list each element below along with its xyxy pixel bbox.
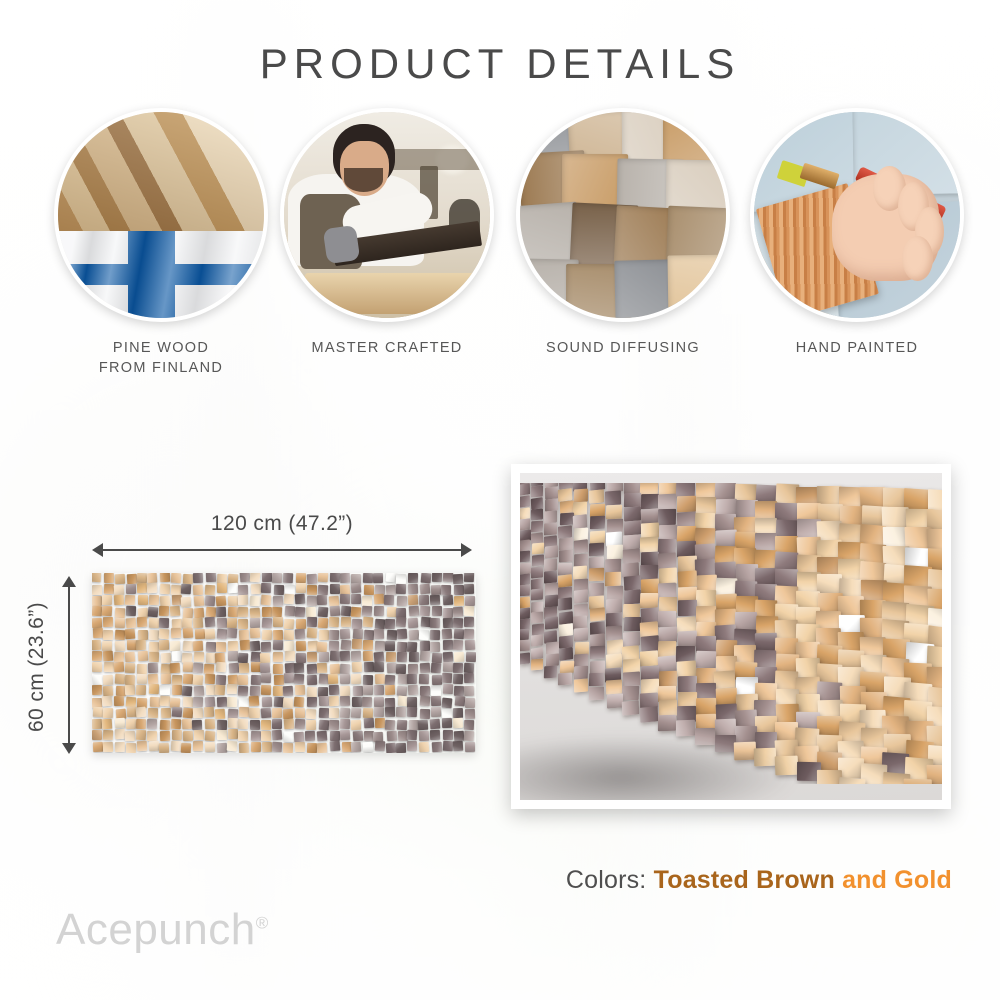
height-dimension-label: 60 cm (23.6”) (25, 577, 49, 757)
feature-label: SOUND DIFFUSING (508, 338, 738, 358)
feature-item-hand-painted[interactable]: HAND PAINTED (742, 108, 972, 358)
feature-label-line1: SOUND DIFFUSING (508, 338, 738, 358)
color-value-primary: Toasted Brown (654, 866, 835, 894)
feature-label-line1: PINE WOOD (46, 338, 276, 358)
product-details-infographic: PRODUCT DETAILS PINE WOOD FROM FINLAND (0, 0, 1000, 1000)
product-flat-view[interactable] (92, 573, 476, 753)
master-crafted-icon (280, 108, 494, 322)
feature-label-line1: HAND PAINTED (742, 338, 972, 358)
feature-label: MASTER CRAFTED (272, 338, 502, 358)
feature-item-pine-wood-from-finland[interactable]: PINE WOOD FROM FINLAND (46, 108, 276, 378)
arrow-down-head (62, 743, 76, 754)
feature-item-sound-diffusing[interactable]: SOUND DIFFUSING (508, 108, 738, 358)
arrow-up-head (62, 576, 76, 587)
feature-label: HAND PAINTED (742, 338, 972, 358)
feature-label-line1: MASTER CRAFTED (272, 338, 502, 358)
sound-diffusing-icon (516, 108, 730, 322)
color-value-secondary: and Gold (835, 866, 952, 894)
hand-painted-icon (750, 108, 964, 322)
page-title: PRODUCT DETAILS (0, 40, 1000, 88)
brand-watermark: Acepunch® (56, 905, 269, 955)
brand-name: Acepunch (56, 905, 256, 954)
feature-list: PINE WOOD FROM FINLAND (0, 108, 1000, 378)
colors-label: Colors: (566, 866, 647, 894)
feature-item-master-crafted[interactable]: MASTER CRAFTED (272, 108, 502, 358)
registered-mark: ® (256, 913, 269, 932)
arrow-left-head (92, 543, 103, 557)
feature-label: PINE WOOD FROM FINLAND (46, 338, 276, 378)
height-dimension-arrow (60, 576, 78, 754)
width-dimension-label: 120 cm (47.2”) (92, 512, 472, 536)
feature-label-line2: FROM FINLAND (46, 358, 276, 378)
width-dimension-arrow (92, 541, 472, 559)
product-angled-photo[interactable] (511, 464, 951, 809)
pine-wood-from-finland-icon (54, 108, 268, 322)
colors-line: Colors: Toasted Brown and Gold (0, 866, 952, 895)
arrow-right-head (461, 543, 472, 557)
